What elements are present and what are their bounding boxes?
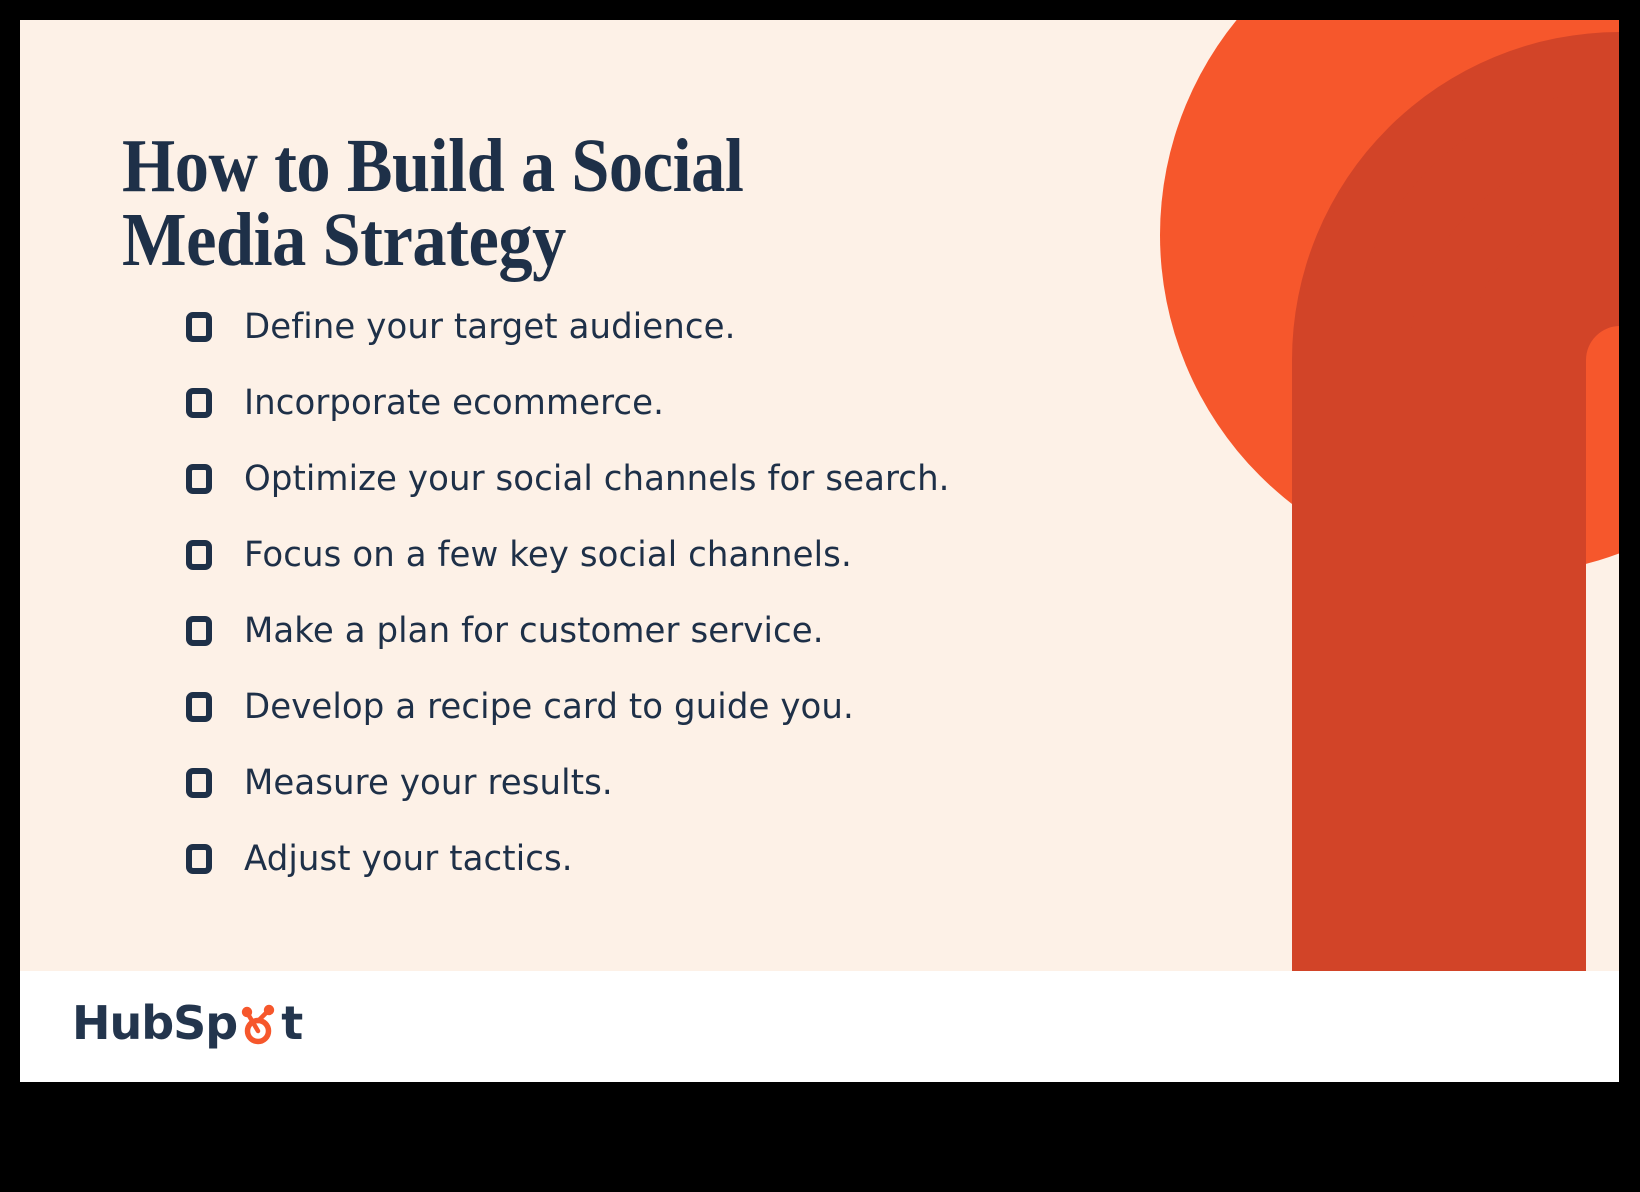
list-item[interactable]: Optimize your social channels for search…: [186, 441, 1246, 517]
list-item-label: Measure your results.: [244, 763, 613, 803]
checkbox-icon[interactable]: [186, 616, 212, 646]
slide-panel: How to Build a Social Media Strategy Def…: [20, 20, 1619, 971]
hubspot-logo[interactable]: HubSp t: [72, 997, 302, 1048]
list-item-label: Incorporate ecommerce.: [244, 383, 664, 423]
list-item-label: Adjust your tactics.: [244, 839, 573, 879]
checkbox-icon[interactable]: [186, 464, 212, 494]
checklist: Define your target audience. Incorporate…: [186, 289, 1246, 897]
checkbox-icon[interactable]: [186, 692, 212, 722]
list-item-label: Optimize your social channels for search…: [244, 459, 950, 499]
list-item[interactable]: Make a plan for customer service.: [186, 593, 1246, 669]
checkbox-icon[interactable]: [186, 388, 212, 418]
checkbox-icon[interactable]: [186, 540, 212, 570]
list-item[interactable]: Incorporate ecommerce.: [186, 365, 1246, 441]
list-item-label: Make a plan for customer service.: [244, 611, 824, 651]
list-item[interactable]: Measure your results.: [186, 745, 1246, 821]
list-item-label: Define your target audience.: [244, 307, 736, 347]
list-item-label: Focus on a few key social channels.: [244, 535, 852, 575]
list-item[interactable]: Define your target audience.: [186, 289, 1246, 365]
hubspot-sprocket-icon: [238, 999, 280, 1050]
list-item[interactable]: Adjust your tactics.: [186, 821, 1246, 897]
arc-2: [1409, 149, 1619, 971]
checkbox-icon[interactable]: [186, 312, 212, 342]
arc-inner-1: [1467, 207, 1619, 971]
footer-bar: HubSp t: [20, 971, 1619, 1082]
checkbox-icon[interactable]: [186, 768, 212, 798]
arc-3: [1350, 90, 1619, 971]
logo-wordmark-suffix: t: [281, 1000, 302, 1046]
checkbox-icon[interactable]: [186, 844, 212, 874]
logo-wordmark-prefix: HubSp: [72, 1000, 237, 1046]
list-item-label: Develop a recipe card to guide you.: [244, 687, 854, 727]
page-title: How to Build a Social Media Strategy: [122, 129, 869, 278]
arc-outer-4: [1292, 32, 1619, 971]
list-item[interactable]: Focus on a few key social channels.: [186, 517, 1246, 593]
slide-root: How to Build a Social Media Strategy Def…: [0, 0, 1640, 1192]
list-item[interactable]: Develop a recipe card to guide you.: [186, 669, 1246, 745]
